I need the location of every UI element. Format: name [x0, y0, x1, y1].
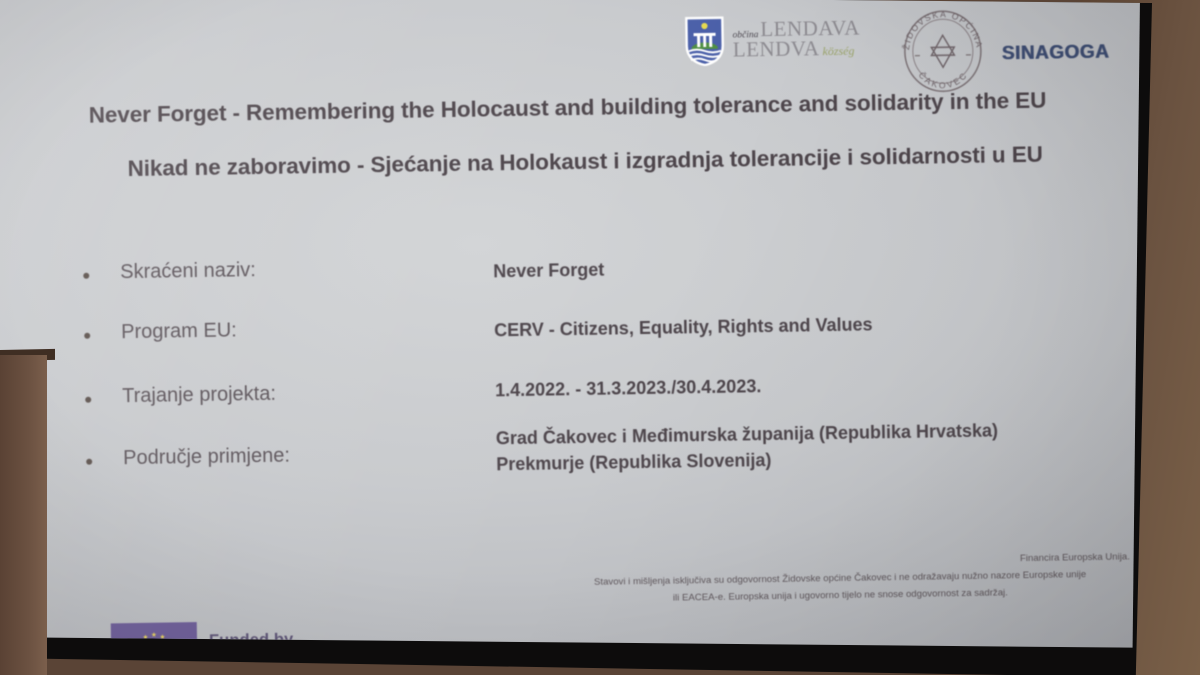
- projection-screen-frame: občinaLENDAVA LENDVAközség: [0, 0, 1152, 675]
- list-item: Program EU:: [84, 316, 461, 345]
- funding-disclaimer: Financira Europska Unija. Stavovi i mišl…: [540, 549, 1141, 609]
- list-item: Područje primjene:: [86, 442, 463, 471]
- bullet-icon: [86, 459, 92, 465]
- detail-label: Trajanje projekta:: [122, 380, 462, 408]
- list-item: Skraćeni naziv:: [83, 256, 460, 285]
- projection-screen-surface: občinaLENDAVA LENDVAközség: [0, 0, 1144, 664]
- funded-by-eu-logo: Funded by the European Union: [111, 619, 368, 675]
- detail-value: CERV - Citizens, Equality, Rights and Va…: [494, 312, 873, 343]
- detail-label: Skraćeni naziv:: [120, 256, 460, 284]
- bullet-icon: [85, 397, 91, 403]
- photo-of-projection-screen: občinaLENDAVA LENDVAközség: [0, 0, 1200, 675]
- list-item: Trajanje projekta:: [85, 380, 462, 409]
- bullet-icon: [83, 273, 89, 279]
- bullet-icon: [84, 333, 90, 339]
- detail-value: 1.4.2022. - 31.3.2023./30.4.2023.: [495, 374, 762, 404]
- detail-label: Područje primjene:: [123, 442, 463, 470]
- eu-flag-icon: [111, 622, 198, 675]
- room-left-column: [0, 355, 47, 675]
- detail-label: Program EU:: [121, 316, 461, 344]
- presentation-slide: občinaLENDAVA LENDVAközség: [0, 0, 1147, 669]
- detail-value: Grad Čakovec i Međimurska županija (Repu…: [496, 418, 999, 477]
- eu-logo-line-2: the European Union: [209, 649, 368, 669]
- eu-logo-line-1: Funded by: [209, 630, 294, 649]
- eu-logo-text: Funded by the European Union: [209, 628, 368, 671]
- detail-value: Never Forget: [493, 258, 604, 285]
